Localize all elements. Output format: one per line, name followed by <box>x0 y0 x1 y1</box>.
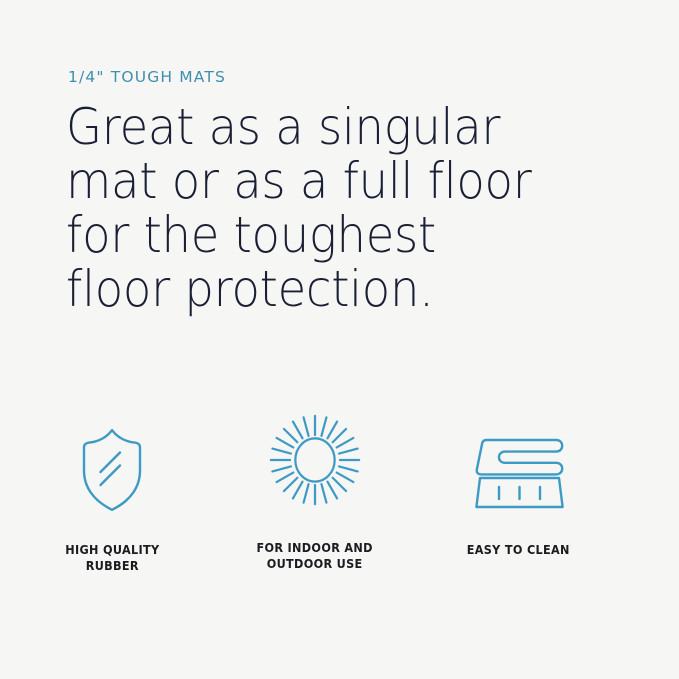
feature-caption: EASY TO CLEAN <box>466 542 569 558</box>
feature-caption-line-2: OUTDOOR USE <box>257 556 373 572</box>
feature-item-indoor-outdoor-use: FOR INDOOR AND OUTDOOR USE <box>215 405 415 572</box>
feature-caption-line-1: FOR INDOOR AND <box>257 540 373 556</box>
promo-banner: 1/4" TOUGH MATS Great as a singular mat … <box>0 0 679 679</box>
shield-icon <box>62 417 162 522</box>
feature-caption-line-1: EASY TO CLEAN <box>466 542 569 558</box>
feature-caption: FOR INDOOR AND OUTDOOR USE <box>257 540 373 572</box>
sun-icon <box>265 407 365 512</box>
feature-caption: HIGH QUALITY RUBBER <box>65 542 159 574</box>
feature-caption-line-1: HIGH QUALITY <box>65 542 159 558</box>
scrub-brush-icon <box>468 421 568 526</box>
page-title: Great as a singular mat or as a full flo… <box>66 100 512 316</box>
headline-line-2: mat or as a full floor <box>66 154 512 208</box>
feature-caption-line-2: RUBBER <box>65 558 159 574</box>
eyebrow-label: 1/4" TOUGH MATS <box>68 68 226 87</box>
feature-item-easy-to-clean: EASY TO CLEAN <box>418 405 618 558</box>
headline-line-3: for the toughest <box>66 208 512 262</box>
feature-item-high-quality-rubber: HIGH QUALITY RUBBER <box>12 405 212 574</box>
headline-line-1: Great as a singular <box>66 100 512 154</box>
headline-line-4: floor protection. <box>66 262 512 316</box>
